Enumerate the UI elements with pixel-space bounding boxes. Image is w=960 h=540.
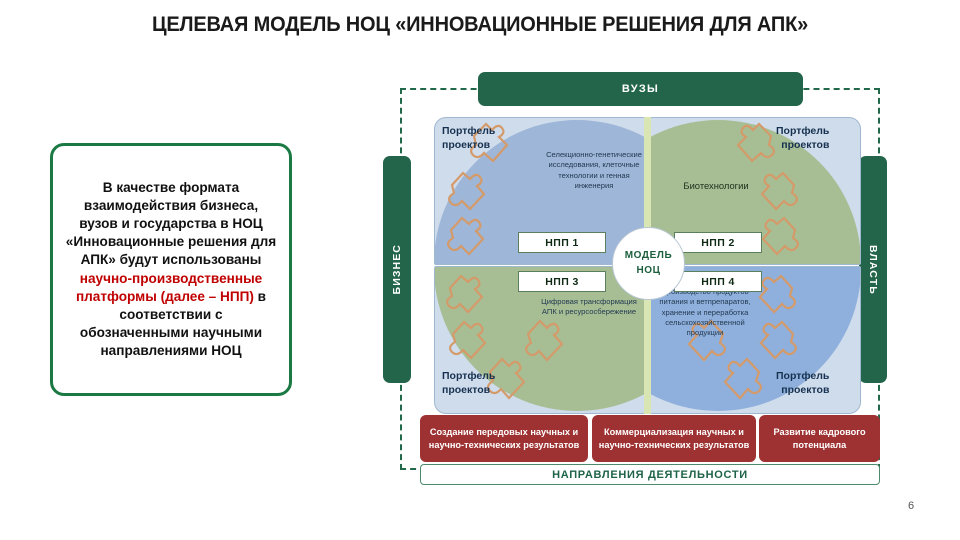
- npp-box-4: НПП 4: [674, 271, 762, 292]
- activity-box-2: Коммерциализация научных и научно-технич…: [592, 415, 756, 462]
- activity-box-1: Создание передовых научных и научно-техн…: [420, 415, 588, 462]
- page-number: 6: [908, 500, 914, 512]
- noc-model-diagram: ВУЗЫ БИЗНЕС ВЛАСТЬ: [378, 72, 902, 487]
- callout-segment-highlight: научно-производственные платформы (далее…: [76, 271, 262, 304]
- npp-box-1-label: НПП 1: [545, 237, 578, 249]
- bar-vlast: ВЛАСТЬ: [859, 156, 887, 383]
- portfolio-label-line1: Портфель: [442, 124, 495, 138]
- portfolio-label-line1: Портфель: [776, 369, 829, 383]
- npp-box-1: НПП 1: [518, 232, 606, 253]
- callout-box: В качестве формата взаимодействия бизнес…: [50, 143, 292, 396]
- portfolio-label-top-right: Портфель проектов: [776, 124, 829, 152]
- portfolio-label-bottom-left: Портфель проектов: [442, 369, 495, 397]
- page-title: ЦЕЛЕВАЯ МОДЕЛЬ НОЦ «ИННОВАЦИОННЫЕ РЕШЕНИ…: [34, 12, 927, 37]
- activity-box-2-label: Коммерциализация научных и научно-технич…: [598, 426, 750, 451]
- callout-text: В качестве формата взаимодействия бизнес…: [65, 179, 277, 360]
- npp-box-3: НПП 3: [518, 271, 606, 292]
- quadrant-description-bottom-left: Цифровая трансформация АПК и ресурсосбер…: [536, 297, 642, 318]
- portfolio-label-line1: Портфель: [442, 369, 495, 383]
- portfolio-label-line2: проектов: [442, 138, 495, 152]
- activity-box-1-label: Создание передовых научных и научно-техн…: [426, 426, 582, 451]
- portfolio-label-top-left: Портфель проектов: [442, 124, 495, 152]
- portfolio-label-line2: проектов: [442, 383, 495, 397]
- quadrant-description-top-right: Биотехнологии: [660, 180, 772, 193]
- bar-biznes-label: БИЗНЕС: [391, 244, 403, 294]
- npp-box-2-label: НПП 2: [701, 237, 734, 249]
- npp-box-4-label: НПП 4: [701, 276, 734, 288]
- bar-directions-label: НАПРАВЛЕНИЯ ДЕЯТЕЛЬНОСТИ: [552, 469, 748, 481]
- center-circle-model-noc: МОДЕЛЬ НОЦ: [612, 227, 685, 300]
- quadrant-description-top-left: Селекционно-генетические исследования, к…: [546, 150, 642, 191]
- npp-box-3-label: НПП 3: [545, 276, 578, 288]
- bar-biznes: БИЗНЕС: [383, 156, 411, 383]
- npp-box-2: НПП 2: [674, 232, 762, 253]
- portfolio-label-line2: проектов: [776, 138, 829, 152]
- activity-box-3-label: Развитие кадрового потенциала: [765, 426, 874, 451]
- portfolio-label-line1: Портфель: [776, 124, 829, 138]
- callout-segment-1: В качестве формата взаимодействия бизнес…: [66, 180, 276, 267]
- activity-box-3: Развитие кадрового потенциала: [759, 415, 880, 462]
- bar-vuzy: ВУЗЫ: [478, 72, 803, 106]
- bar-vuzy-label: ВУЗЫ: [622, 83, 659, 95]
- center-circle-line1: МОДЕЛЬ: [625, 249, 673, 264]
- bar-directions: НАПРАВЛЕНИЯ ДЕЯТЕЛЬНОСТИ: [420, 464, 880, 485]
- portfolio-label-bottom-right: Портфель проектов: [776, 369, 829, 397]
- portfolio-label-line2: проектов: [776, 383, 829, 397]
- bar-vlast-label: ВЛАСТЬ: [867, 245, 879, 295]
- center-circle-line2: НОЦ: [636, 264, 660, 279]
